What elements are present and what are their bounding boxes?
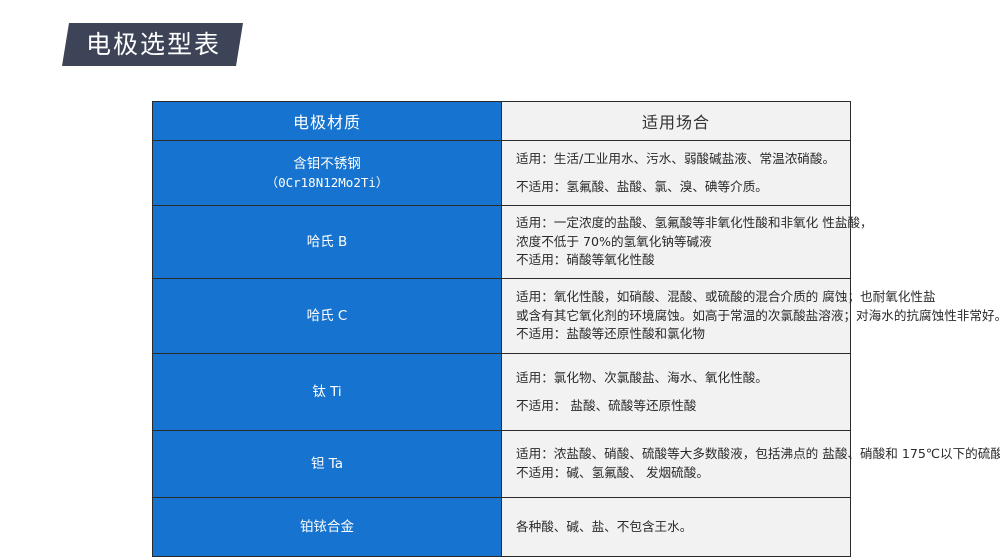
electrode-selection-table: 电极材质 适用场合 含钼不锈钢（0Cr18N12Mo2Ti）适用：生活/工业用水… bbox=[152, 101, 851, 557]
table-body: 电极材质 适用场合 含钼不锈钢（0Cr18N12Mo2Ti）适用：生活/工业用水… bbox=[153, 102, 851, 557]
application-line: 适用：氧化性酸，如硝酸、混酸、或硫酸的混合介质的 腐蚀；也耐氧化性盐 bbox=[516, 288, 840, 307]
material-cell: 钛 Ti bbox=[153, 354, 502, 431]
page-title: 电极选型表 bbox=[86, 32, 221, 57]
application-cell: 适用：氧化性酸，如硝酸、混酸、或硫酸的混合介质的 腐蚀；也耐氧化性盐或含有其它氧… bbox=[502, 279, 851, 354]
material-cell: 含钼不锈钢（0Cr18N12Mo2Ti） bbox=[153, 141, 502, 206]
application-cell: 适用：生活/工业用水、污水、弱酸碱盐液、常温浓硝酸。不适用：氢氟酸、盐酸、氯、溴… bbox=[502, 141, 851, 206]
table-row: 钛 Ti适用：氯化物、次氯酸盐、海水、氧化性酸。不适用： 盐酸、硫酸等还原性酸 bbox=[153, 354, 851, 431]
application-line: 不适用：硝酸等氧化性酸 bbox=[516, 251, 840, 270]
application-cell: 适用：浓盐酸、硝酸、硫酸等大多数酸液，包括沸点的 盐酸、硝酸和 175℃以下的硫… bbox=[502, 431, 851, 498]
table-row: 哈氏 B适用：一定浓度的盐酸、氢氟酸等非氧化性酸和非氧化 性盐酸，浓度不低于 7… bbox=[153, 206, 851, 279]
material-cell: 铂铱合金 bbox=[153, 498, 502, 557]
material-name: 哈氏 C bbox=[155, 306, 499, 326]
application-line: 不适用： 盐酸、硫酸等还原性酸 bbox=[516, 397, 840, 416]
material-name: 钛 Ti bbox=[155, 382, 499, 402]
application-line: 适用：浓盐酸、硝酸、硫酸等大多数酸液，包括沸点的 盐酸、硝酸和 175℃以下的硫… bbox=[516, 445, 840, 464]
table-row: 铂铱合金各种酸、碱、盐、不包含王水。 bbox=[153, 498, 851, 557]
table-row: 含钼不锈钢（0Cr18N12Mo2Ti）适用：生活/工业用水、污水、弱酸碱盐液、… bbox=[153, 141, 851, 206]
application-line: 或含有其它氧化剂的环境腐蚀。如高于常温的次氯酸盐溶液；对海水的抗腐蚀性非常好。 bbox=[516, 307, 840, 326]
page-title-banner: 电极选型表 bbox=[62, 23, 243, 66]
application-cell: 适用：氯化物、次氯酸盐、海水、氧化性酸。不适用： 盐酸、硫酸等还原性酸 bbox=[502, 354, 851, 431]
application-line: 适用：氯化物、次氯酸盐、海水、氧化性酸。 bbox=[516, 369, 840, 388]
table-row: 钽 Ta适用：浓盐酸、硝酸、硫酸等大多数酸液，包括沸点的 盐酸、硝酸和 175℃… bbox=[153, 431, 851, 498]
table-header-row: 电极材质 适用场合 bbox=[153, 102, 851, 141]
material-cell: 哈氏 C bbox=[153, 279, 502, 354]
material-grade-code: （0Cr18N12Mo2Ti） bbox=[155, 174, 499, 193]
application-cell: 适用：一定浓度的盐酸、氢氟酸等非氧化性酸和非氧化 性盐酸，浓度不低于 70%的氢… bbox=[502, 206, 851, 279]
material-name: 铂铱合金 bbox=[155, 517, 499, 537]
application-line: 浓度不低于 70%的氢氧化钠等碱液 bbox=[516, 233, 840, 252]
application-line: 不适用：氢氟酸、盐酸、氯、溴、碘等介质。 bbox=[516, 178, 840, 197]
application-cell: 各种酸、碱、盐、不包含王水。 bbox=[502, 498, 851, 557]
application-line: 不适用：碱、氢氟酸、 发烟硫酸。 bbox=[516, 464, 840, 483]
application-line: 适用：生活/工业用水、污水、弱酸碱盐液、常温浓硝酸。 bbox=[516, 150, 840, 169]
header-cell-material: 电极材质 bbox=[153, 102, 502, 141]
application-line: 不适用：盐酸等还原性酸和氯化物 bbox=[516, 325, 840, 344]
material-name: 哈氏 B bbox=[155, 232, 499, 252]
material-name: 钽 Ta bbox=[155, 454, 499, 474]
application-line: 适用：一定浓度的盐酸、氢氟酸等非氧化性酸和非氧化 性盐酸， bbox=[516, 214, 840, 233]
material-cell: 哈氏 B bbox=[153, 206, 502, 279]
application-line: 各种酸、碱、盐、不包含王水。 bbox=[516, 518, 840, 537]
material-name: 含钼不锈钢 bbox=[155, 154, 499, 174]
table-row: 哈氏 C适用：氧化性酸，如硝酸、混酸、或硫酸的混合介质的 腐蚀；也耐氧化性盐或含… bbox=[153, 279, 851, 354]
header-cell-application: 适用场合 bbox=[502, 102, 851, 141]
material-cell: 钽 Ta bbox=[153, 431, 502, 498]
